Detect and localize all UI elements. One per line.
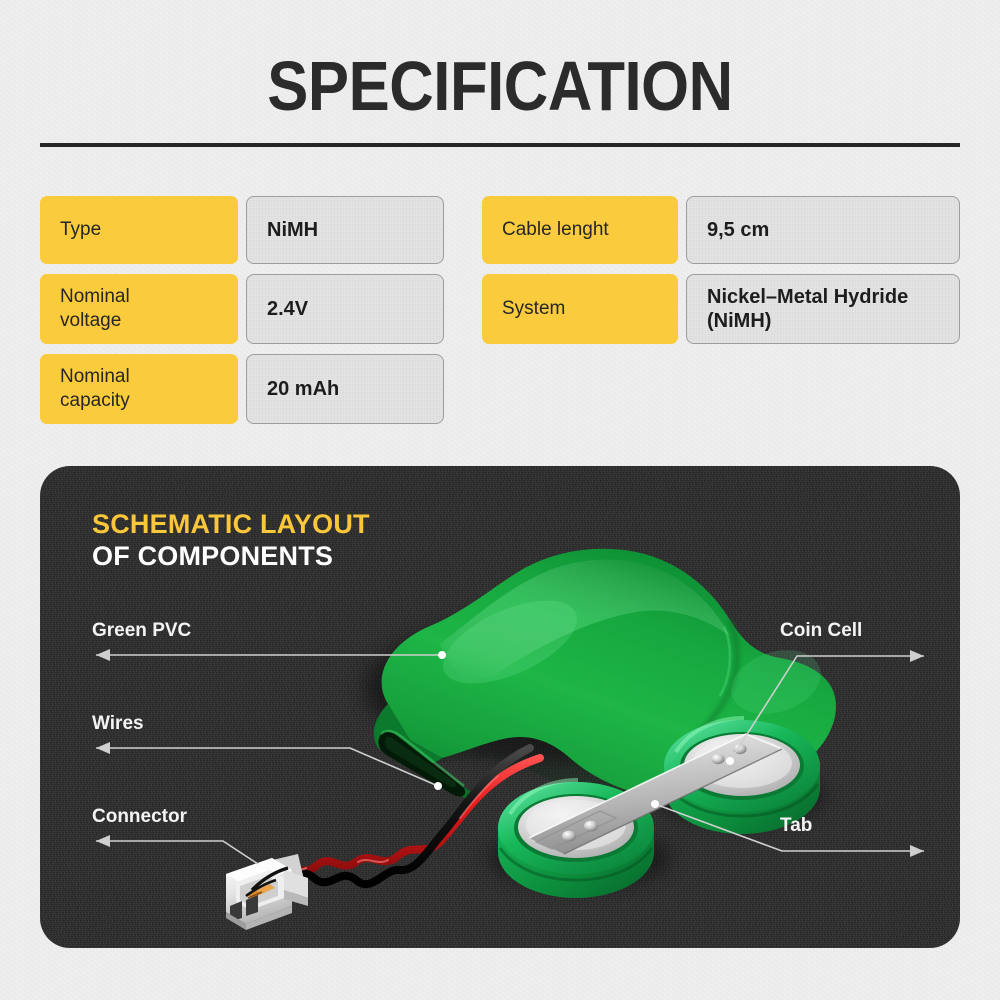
spec-value-nominal-voltage: 2.4V	[246, 274, 444, 344]
spec-row-nominal-capacity: Nominal capacity 20 mAh	[40, 354, 444, 424]
spec-value-system: Nickel–Metal Hydride (NiMH)	[686, 274, 960, 344]
callout-label-coin-cell: Coin Cell	[780, 620, 862, 642]
callout-label-connector: Connector	[92, 806, 187, 828]
callout-label-tab: Tab	[780, 815, 812, 837]
schematic-heading: SCHEMATIC LAYOUT OF COMPONENTS	[92, 508, 370, 572]
schematic-heading-line1: SCHEMATIC LAYOUT	[92, 508, 370, 540]
spec-value-type: NiMH	[246, 196, 444, 264]
spec-label-cable-length: Cable lenght	[482, 196, 678, 264]
page-title: SPECIFICATION	[60, 47, 940, 125]
arrowhead-coin-cell	[910, 650, 924, 662]
spec-label-nominal-capacity: Nominal capacity	[40, 354, 238, 424]
title-divider	[40, 143, 960, 147]
schematic-heading-line2: OF COMPONENTS	[92, 540, 370, 572]
spec-table-left: Type NiMH Nominal voltage 2.4V Nominal c…	[40, 196, 444, 434]
callout-target-dots	[434, 651, 734, 808]
spec-row-nominal-voltage: Nominal voltage 2.4V	[40, 274, 444, 344]
schematic-panel: SCHEMATIC LAYOUT OF COMPONENTS Green PVC…	[40, 466, 960, 948]
spec-value-cable-length: 9,5 cm	[686, 196, 960, 264]
spec-label-nominal-voltage: Nominal voltage	[40, 274, 238, 344]
spec-table-right: Cable lenght 9,5 cm System Nickel–Metal …	[482, 196, 960, 354]
spec-value-nominal-capacity: 20 mAh	[246, 354, 444, 424]
arrowhead-tab	[910, 845, 924, 857]
arrowhead-wires	[96, 742, 110, 754]
spec-label-type: Type	[40, 196, 238, 264]
arrowhead-green-pvc	[96, 649, 110, 661]
spec-label-system: System	[482, 274, 678, 344]
spec-row-type: Type NiMH	[40, 196, 444, 264]
callout-label-green-pvc: Green PVC	[92, 620, 191, 642]
callout-label-wires: Wires	[92, 713, 144, 735]
spec-row-system: System Nickel–Metal Hydride (NiMH)	[482, 274, 960, 344]
arrowhead-connector	[96, 835, 110, 847]
spec-row-cable-length: Cable lenght 9,5 cm	[482, 196, 960, 264]
